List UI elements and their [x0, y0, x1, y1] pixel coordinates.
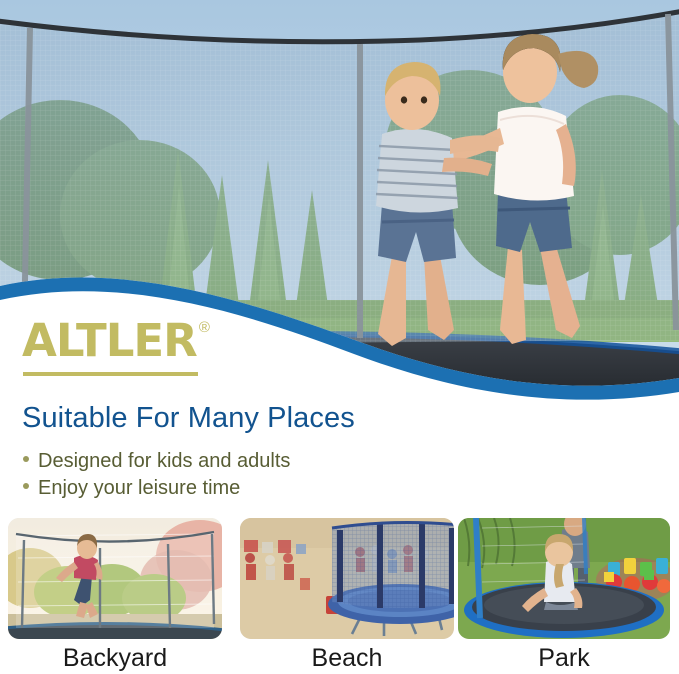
backyard-illustration: [8, 518, 222, 639]
feature-bullet-list: Designed for kids and adults Enjoy your …: [23, 448, 290, 501]
brand-name: ALTLER: [22, 318, 197, 363]
bullet-dot-icon: [23, 456, 29, 462]
thumbnail-captions: Backyard Beach Park: [0, 644, 679, 674]
product-feature-banner: ALTLER ® Suitable For Many Places Design…: [0, 0, 679, 674]
list-item: Designed for kids and adults: [23, 448, 290, 475]
thumbnail-backyard: [8, 518, 222, 639]
list-item: Enjoy your leisure time: [23, 475, 290, 502]
caption-backyard: Backyard: [8, 644, 222, 673]
park-illustration: [458, 518, 670, 639]
brand-logo: ALTLER ®: [22, 318, 210, 363]
bullet-dot-icon: [23, 483, 29, 489]
caption-beach: Beach: [240, 644, 454, 673]
thumbnail-park: [458, 518, 670, 639]
caption-park: Park: [458, 644, 670, 673]
bullet-text: Designed for kids and adults: [38, 448, 290, 475]
scene-thumbnail-row: [0, 518, 679, 640]
page-title: Suitable For Many Places: [22, 402, 355, 435]
logo-underline-rule: [23, 372, 198, 376]
thumbnail-beach: [240, 518, 454, 639]
bullet-text: Enjoy your leisure time: [38, 475, 240, 502]
beach-illustration: [240, 518, 454, 639]
registered-trademark-icon: ®: [199, 319, 210, 336]
